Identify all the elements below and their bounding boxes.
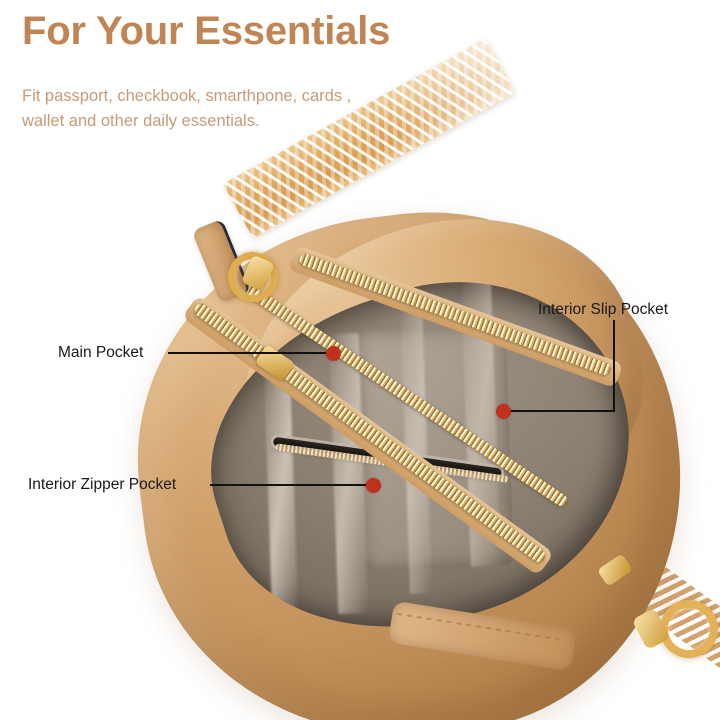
marker-dot-main-pocket [326,346,341,361]
leader-line-slip-vertical [613,320,615,412]
leader-line-slip-horizontal [506,410,614,412]
callout-label-interior-zipper-pocket: Interior Zipper Pocket [28,477,176,493]
marker-dot-interior-slip-pocket [496,404,511,419]
infographic-canvas: For Your Essentials Fit passport, checkb… [0,0,720,720]
page-subtitle: Fit passport, checkbook, smarthpone, car… [22,84,351,134]
woven-strap [223,38,515,238]
marker-dot-interior-zipper-pocket [366,478,381,493]
lining-fold [264,367,299,618]
leader-line-zipper-pocket [210,484,370,486]
leader-line-main-pocket [168,352,330,354]
callout-label-interior-slip-pocket: Interior Slip Pocket [538,302,668,318]
callout-label-main-pocket: Main Pocket [58,345,143,361]
page-title: For Your Essentials [22,8,390,54]
